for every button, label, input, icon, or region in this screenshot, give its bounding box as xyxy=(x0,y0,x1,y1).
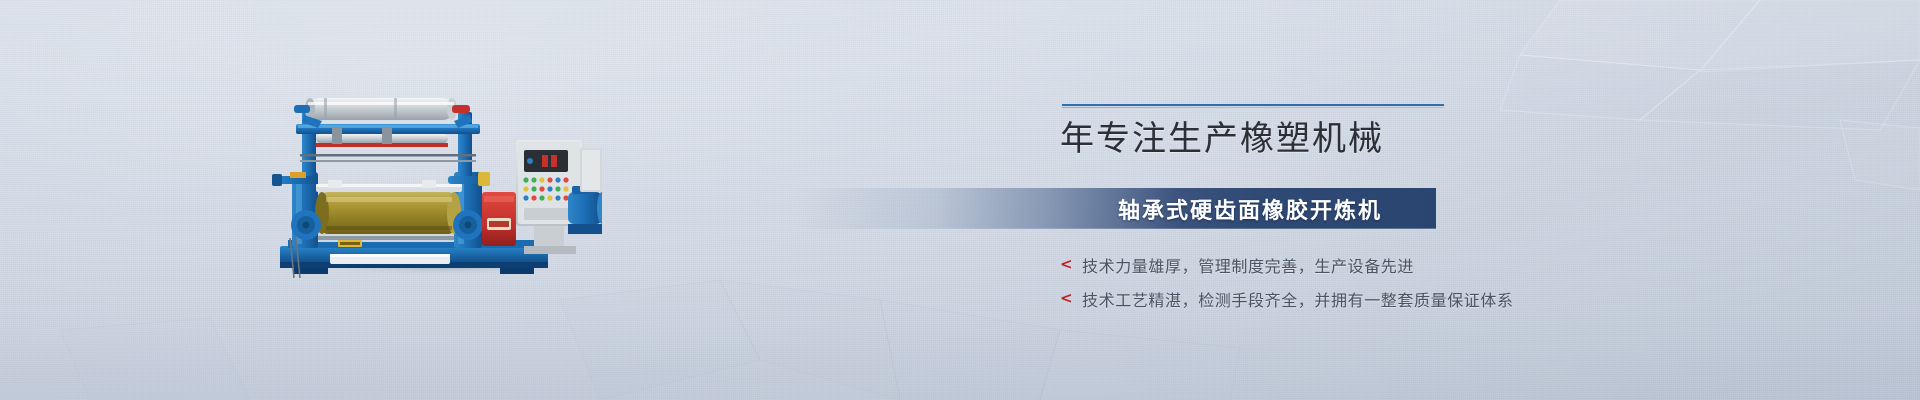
banner-subtitle: 轴承式硬齿面橡胶开炼机 xyxy=(1118,193,1382,225)
chevron-left-icon: < xyxy=(1060,257,1076,272)
list-item: < 技术工艺精湛，检测手段齐全，并拥有一整套质量保证体系 xyxy=(1060,284,1660,314)
feature-bullet-list: < 技术力量雄厚，管理制度完善，生产设备先进 < 技术工艺精湛，检测手段齐全，并… xyxy=(1060,250,1660,314)
subtitle-bar: 轴承式硬齿面橡胶开炼机 xyxy=(792,188,1436,229)
promo-banner: 年专注生产橡塑机械 轴承式硬齿面橡胶开炼机 < 技术力量雄厚，管理制度完善，生产… xyxy=(0,0,1920,400)
list-item: < 技术力量雄厚，管理制度完善，生产设备先进 xyxy=(1060,250,1660,280)
bullet-text: 技术力量雄厚，管理制度完善，生产设备先进 xyxy=(1082,253,1414,277)
banner-content: 年专注生产橡塑机械 轴承式硬齿面橡胶开炼机 < 技术力量雄厚，管理制度完善，生产… xyxy=(1060,104,1620,161)
banner-headline: 年专注生产橡塑机械 xyxy=(1060,117,1620,161)
divider-line-tan xyxy=(1062,107,1444,108)
bullet-text: 技术工艺精湛，检测手段齐全，并拥有一整套质量保证体系 xyxy=(1082,287,1514,311)
product-image-rubber-mixing-mill xyxy=(272,88,602,278)
machine-illustration xyxy=(272,88,602,278)
headline-divider-rule xyxy=(1062,104,1444,108)
divider-line-blue xyxy=(1062,104,1444,106)
chevron-left-icon: < xyxy=(1060,291,1076,306)
